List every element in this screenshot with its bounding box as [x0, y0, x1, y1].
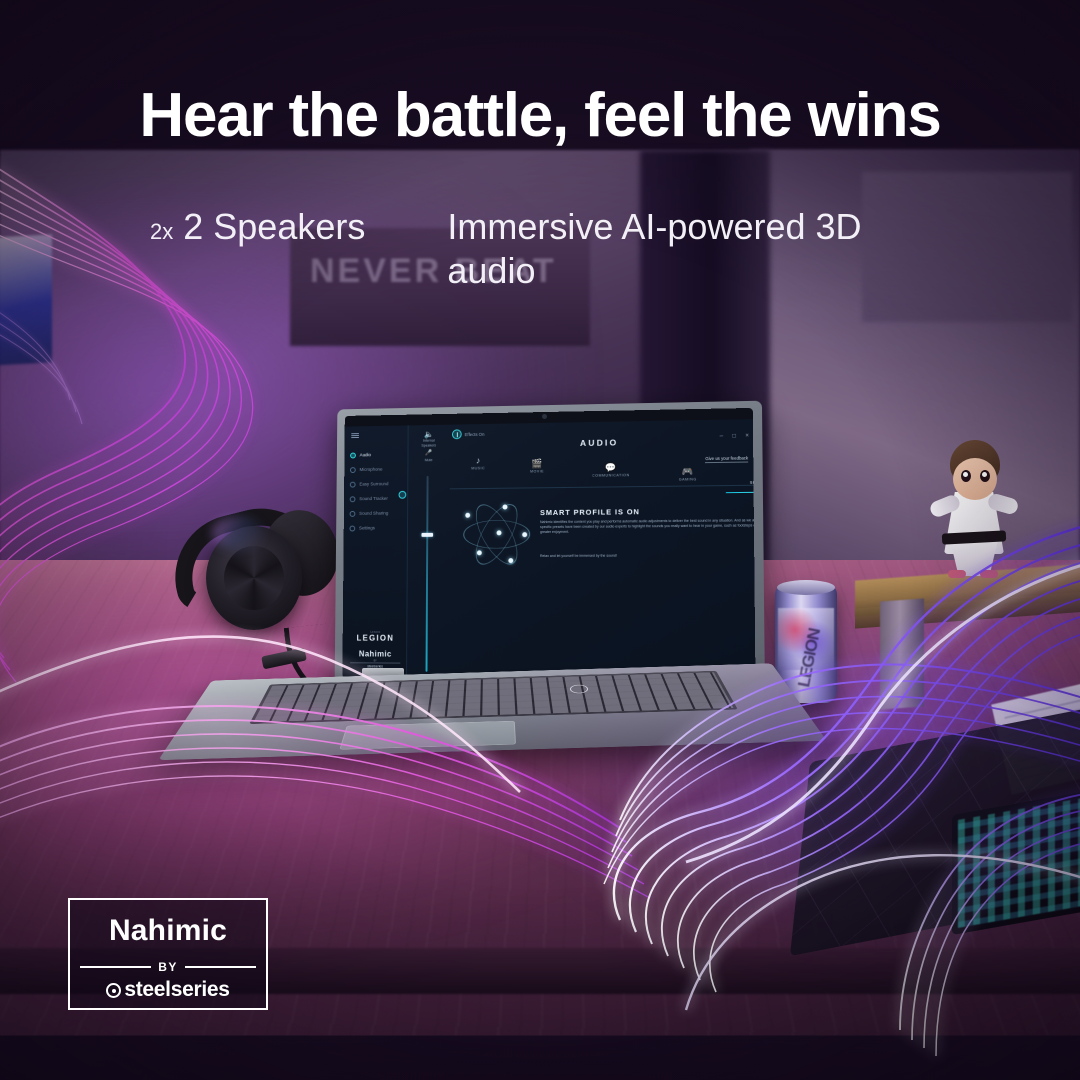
tab-communication[interactable]: 💬 COMMUNICATION — [576, 462, 646, 478]
atom-electron-3 — [522, 532, 527, 537]
app-page-title: AUDIO — [450, 435, 753, 450]
tab-music[interactable]: ♪ MUSIC — [452, 455, 505, 471]
surround-icon — [350, 481, 356, 487]
sidebar-label-settings: Settings — [359, 525, 375, 530]
sidebar-label-sound-sharing: Sound Sharing — [359, 511, 388, 516]
volume-slider-track[interactable] — [426, 476, 429, 672]
smart-profile-paragraph-2: Relax and let yourself be immersed by th… — [540, 553, 755, 558]
figurine-foot-left — [948, 570, 966, 578]
gamepad-icon: 🎮 — [660, 466, 715, 478]
marketing-banner: NEVER BEAT LEGION — [0, 0, 1080, 1080]
sidebar-item-easy-surround[interactable]: Easy Surround — [350, 476, 408, 491]
laptop-base — [158, 663, 826, 760]
divider-right — [185, 966, 256, 968]
feature-speakers: 2x 2 Speakers — [150, 205, 365, 293]
close-icon[interactable]: × — [745, 433, 749, 439]
smart-profile-paragraph-1: Nahimic identifies the content you play … — [540, 518, 755, 535]
mute-label: Mute — [411, 458, 446, 463]
device-name-line2: Speakers — [411, 443, 446, 448]
by-label: BY — [158, 960, 177, 974]
share-icon — [350, 510, 356, 516]
app-main-panel: Effects On AUDIO – □ × Give us your feed… — [449, 419, 756, 681]
tab-label-movie: MOVIE — [510, 469, 563, 474]
microphone-icon — [350, 467, 356, 473]
tab-movie[interactable]: 🎬 MOVIE — [510, 458, 563, 474]
shelf-support — [880, 598, 924, 709]
active-tab-underline — [726, 491, 756, 493]
sidebar-label-audio: Audio — [360, 452, 371, 457]
sidebar-label-sound-tracker: Sound Tracker — [359, 496, 388, 501]
sidebar-label-easy-surround: Easy Surround — [359, 481, 388, 486]
laptop-screen-branding: Lenovo LEGION Nahimic BY steelseries — [350, 631, 400, 669]
smart-gear-icon: ⚙ — [730, 469, 756, 481]
window-controls[interactable]: – □ × — [720, 433, 749, 440]
figurine-eye-left — [961, 470, 971, 482]
power-icon — [452, 429, 462, 439]
steelseries-wordmark: steelseries — [124, 978, 229, 1001]
atom-electron-6 — [508, 558, 513, 563]
tab-label-communication: COMMUNICATION — [576, 473, 646, 478]
speaker-icon — [350, 452, 356, 458]
gear-icon — [349, 525, 355, 531]
power-button-icon[interactable] — [570, 685, 588, 693]
atom-electron-2 — [503, 505, 508, 510]
atom-electron-4 — [497, 530, 502, 535]
keyboard-rgb-keys — [958, 792, 1080, 928]
atom-electron-1 — [465, 513, 470, 518]
page-title: Hear the battle, feel the wins — [0, 80, 1080, 151]
sidebar-label-microphone: Microphone — [360, 467, 383, 472]
sidebar-item-settings[interactable]: Settings — [349, 520, 407, 535]
nahimic-app-window: Audio Microphone Easy Surround Soun — [342, 419, 755, 681]
webcam-icon — [542, 414, 547, 419]
effects-toggle[interactable]: Effects On — [452, 429, 485, 439]
app-sidebar: Audio Microphone Easy Surround Soun — [342, 425, 408, 678]
divider-left — [80, 966, 151, 968]
figurine-foot-right — [980, 570, 998, 578]
volume-slider-handle[interactable] — [421, 533, 433, 537]
sidebar-item-microphone[interactable]: Microphone — [350, 461, 407, 476]
hamburger-menu-icon[interactable] — [351, 432, 359, 438]
radar-icon — [350, 496, 356, 502]
feature-list: 2x 2 Speakers Immersive AI-powered 3D au… — [150, 205, 970, 293]
figurine-eye-right — [980, 470, 990, 482]
tab-smart[interactable]: ⚙ SMART — [730, 469, 756, 485]
tab-label-gaming: GAMING — [660, 477, 715, 482]
legion-wordmark: LEGION — [350, 634, 400, 643]
device-selector[interactable]: 🔈 Internal Speakers 🎤 Mute — [411, 430, 446, 464]
nahimic-wordmark: Nahimic — [70, 914, 266, 948]
by-divider-row: BY — [80, 960, 256, 974]
brand-logo-box: Nahimic BY steelseries — [68, 898, 268, 1010]
tab-label-music: MUSIC — [452, 466, 505, 471]
clapperboard-icon: 🎬 — [510, 458, 563, 470]
maximize-icon[interactable]: □ — [732, 433, 736, 439]
tab-label-smart: SMART — [730, 480, 756, 485]
laptop-screen-bezel: Audio Microphone Easy Surround Soun — [342, 408, 755, 681]
atom-icon — [463, 500, 530, 568]
nahimic-wordmark-screen: Nahimic — [350, 649, 400, 658]
sidebar-item-audio[interactable]: Audio — [350, 447, 407, 462]
karate-figurine — [932, 440, 1016, 578]
effects-toggle-label: Effects On — [465, 431, 485, 436]
steelseries-eye-icon — [106, 983, 121, 998]
wall-poster-blue — [0, 234, 52, 365]
can-lid — [777, 580, 835, 595]
figurine-head — [953, 458, 997, 500]
atom-electron-5 — [477, 550, 482, 555]
minimize-icon[interactable]: – — [720, 434, 723, 440]
laptop: Audio Microphone Easy Surround Soun — [210, 404, 770, 854]
music-note-icon: ♪ — [452, 455, 505, 467]
feature-speakers-label: 2 Speakers — [173, 206, 365, 247]
feature-3d-audio: Immersive AI-powered 3D audio — [447, 205, 887, 293]
steelseries-lockup: steelseries — [70, 978, 266, 1002]
sidebar-item-sound-sharing[interactable]: Sound Sharing — [350, 506, 408, 521]
audio-profile-tabs: ♪ MUSIC 🎬 MOVIE 💬 COMMUNICATION 🎮 — [450, 449, 754, 489]
smart-profile-heading: SMART PROFILE IS ON — [540, 507, 640, 517]
feature-speakers-multiplier: 2x — [150, 219, 173, 244]
tab-gaming[interactable]: 🎮 GAMING — [660, 466, 715, 482]
